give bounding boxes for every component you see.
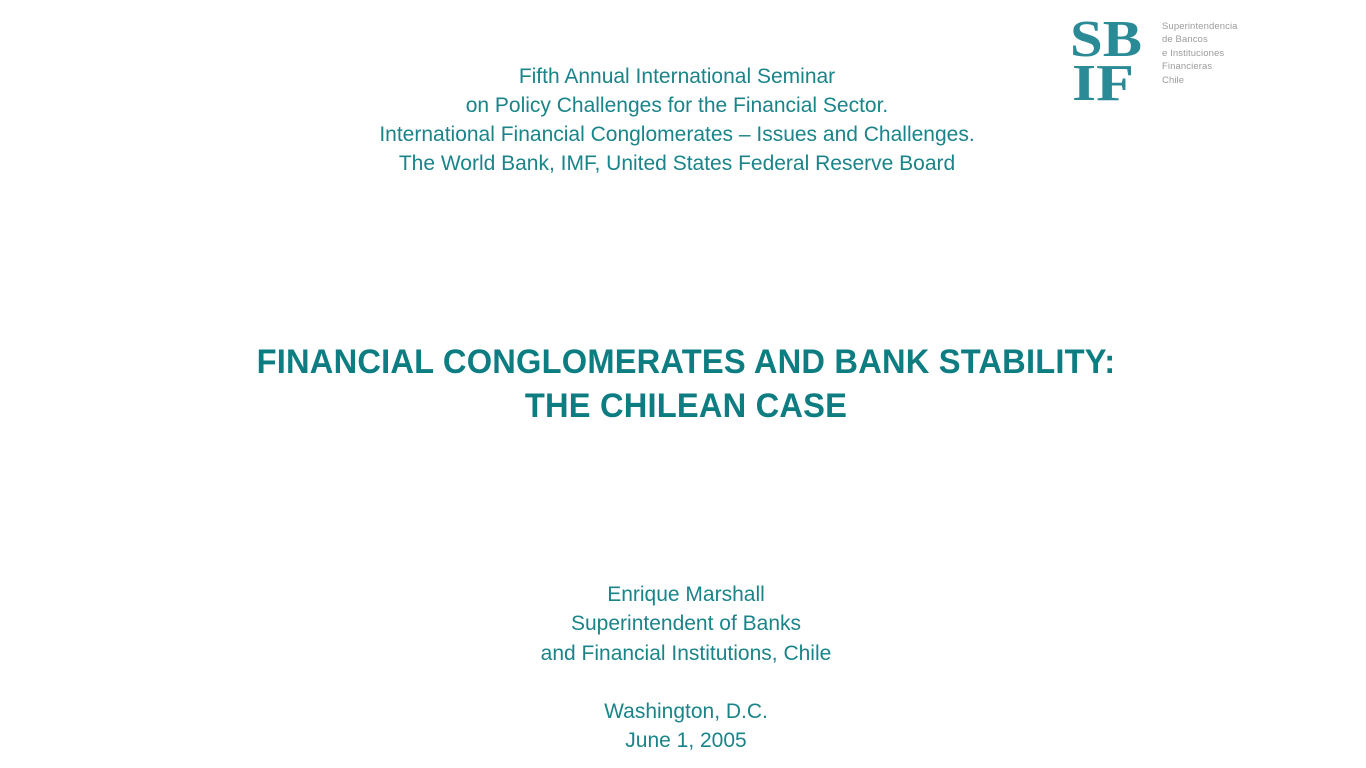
page-title-line-1: FINANCIAL CONGLOMERATES AND BANK STABILI… bbox=[27, 340, 1344, 384]
seminar-header-line-4: The World Bank, IMF, United States Feder… bbox=[0, 149, 1354, 178]
logo-caption-line-3: e Instituciones bbox=[1162, 47, 1238, 60]
seminar-header: Fifth Annual International Seminar on Po… bbox=[0, 62, 1354, 178]
page-title: FINANCIAL CONGLOMERATES AND BANK STABILI… bbox=[0, 340, 1366, 428]
event-location: Washington, D.C. bbox=[0, 697, 1366, 726]
seminar-header-line-3: International Financial Conglomerates – … bbox=[0, 120, 1354, 149]
logo-caption-line-2: de Bancos bbox=[1162, 33, 1238, 46]
seminar-header-line-2: on Policy Challenges for the Financial S… bbox=[0, 91, 1354, 120]
event-date: June 1, 2005 bbox=[0, 726, 1366, 755]
author-role-line-2: and Financial Institutions, Chile bbox=[0, 639, 1366, 668]
author-block-spacer bbox=[0, 668, 1366, 697]
seminar-header-line-1: Fifth Annual International Seminar bbox=[0, 62, 1354, 91]
author-role-line-1: Superintendent of Banks bbox=[0, 609, 1366, 638]
logo-caption-line-1: Superintendencia bbox=[1162, 20, 1238, 33]
page-title-line-2: THE CHILEAN CASE bbox=[27, 384, 1344, 428]
presentation-title-slide: SB IF Superintendencia de Bancos e Insti… bbox=[0, 0, 1366, 768]
author-name: Enrique Marshall bbox=[0, 580, 1366, 609]
author-block: Enrique Marshall Superintendent of Banks… bbox=[0, 580, 1366, 755]
